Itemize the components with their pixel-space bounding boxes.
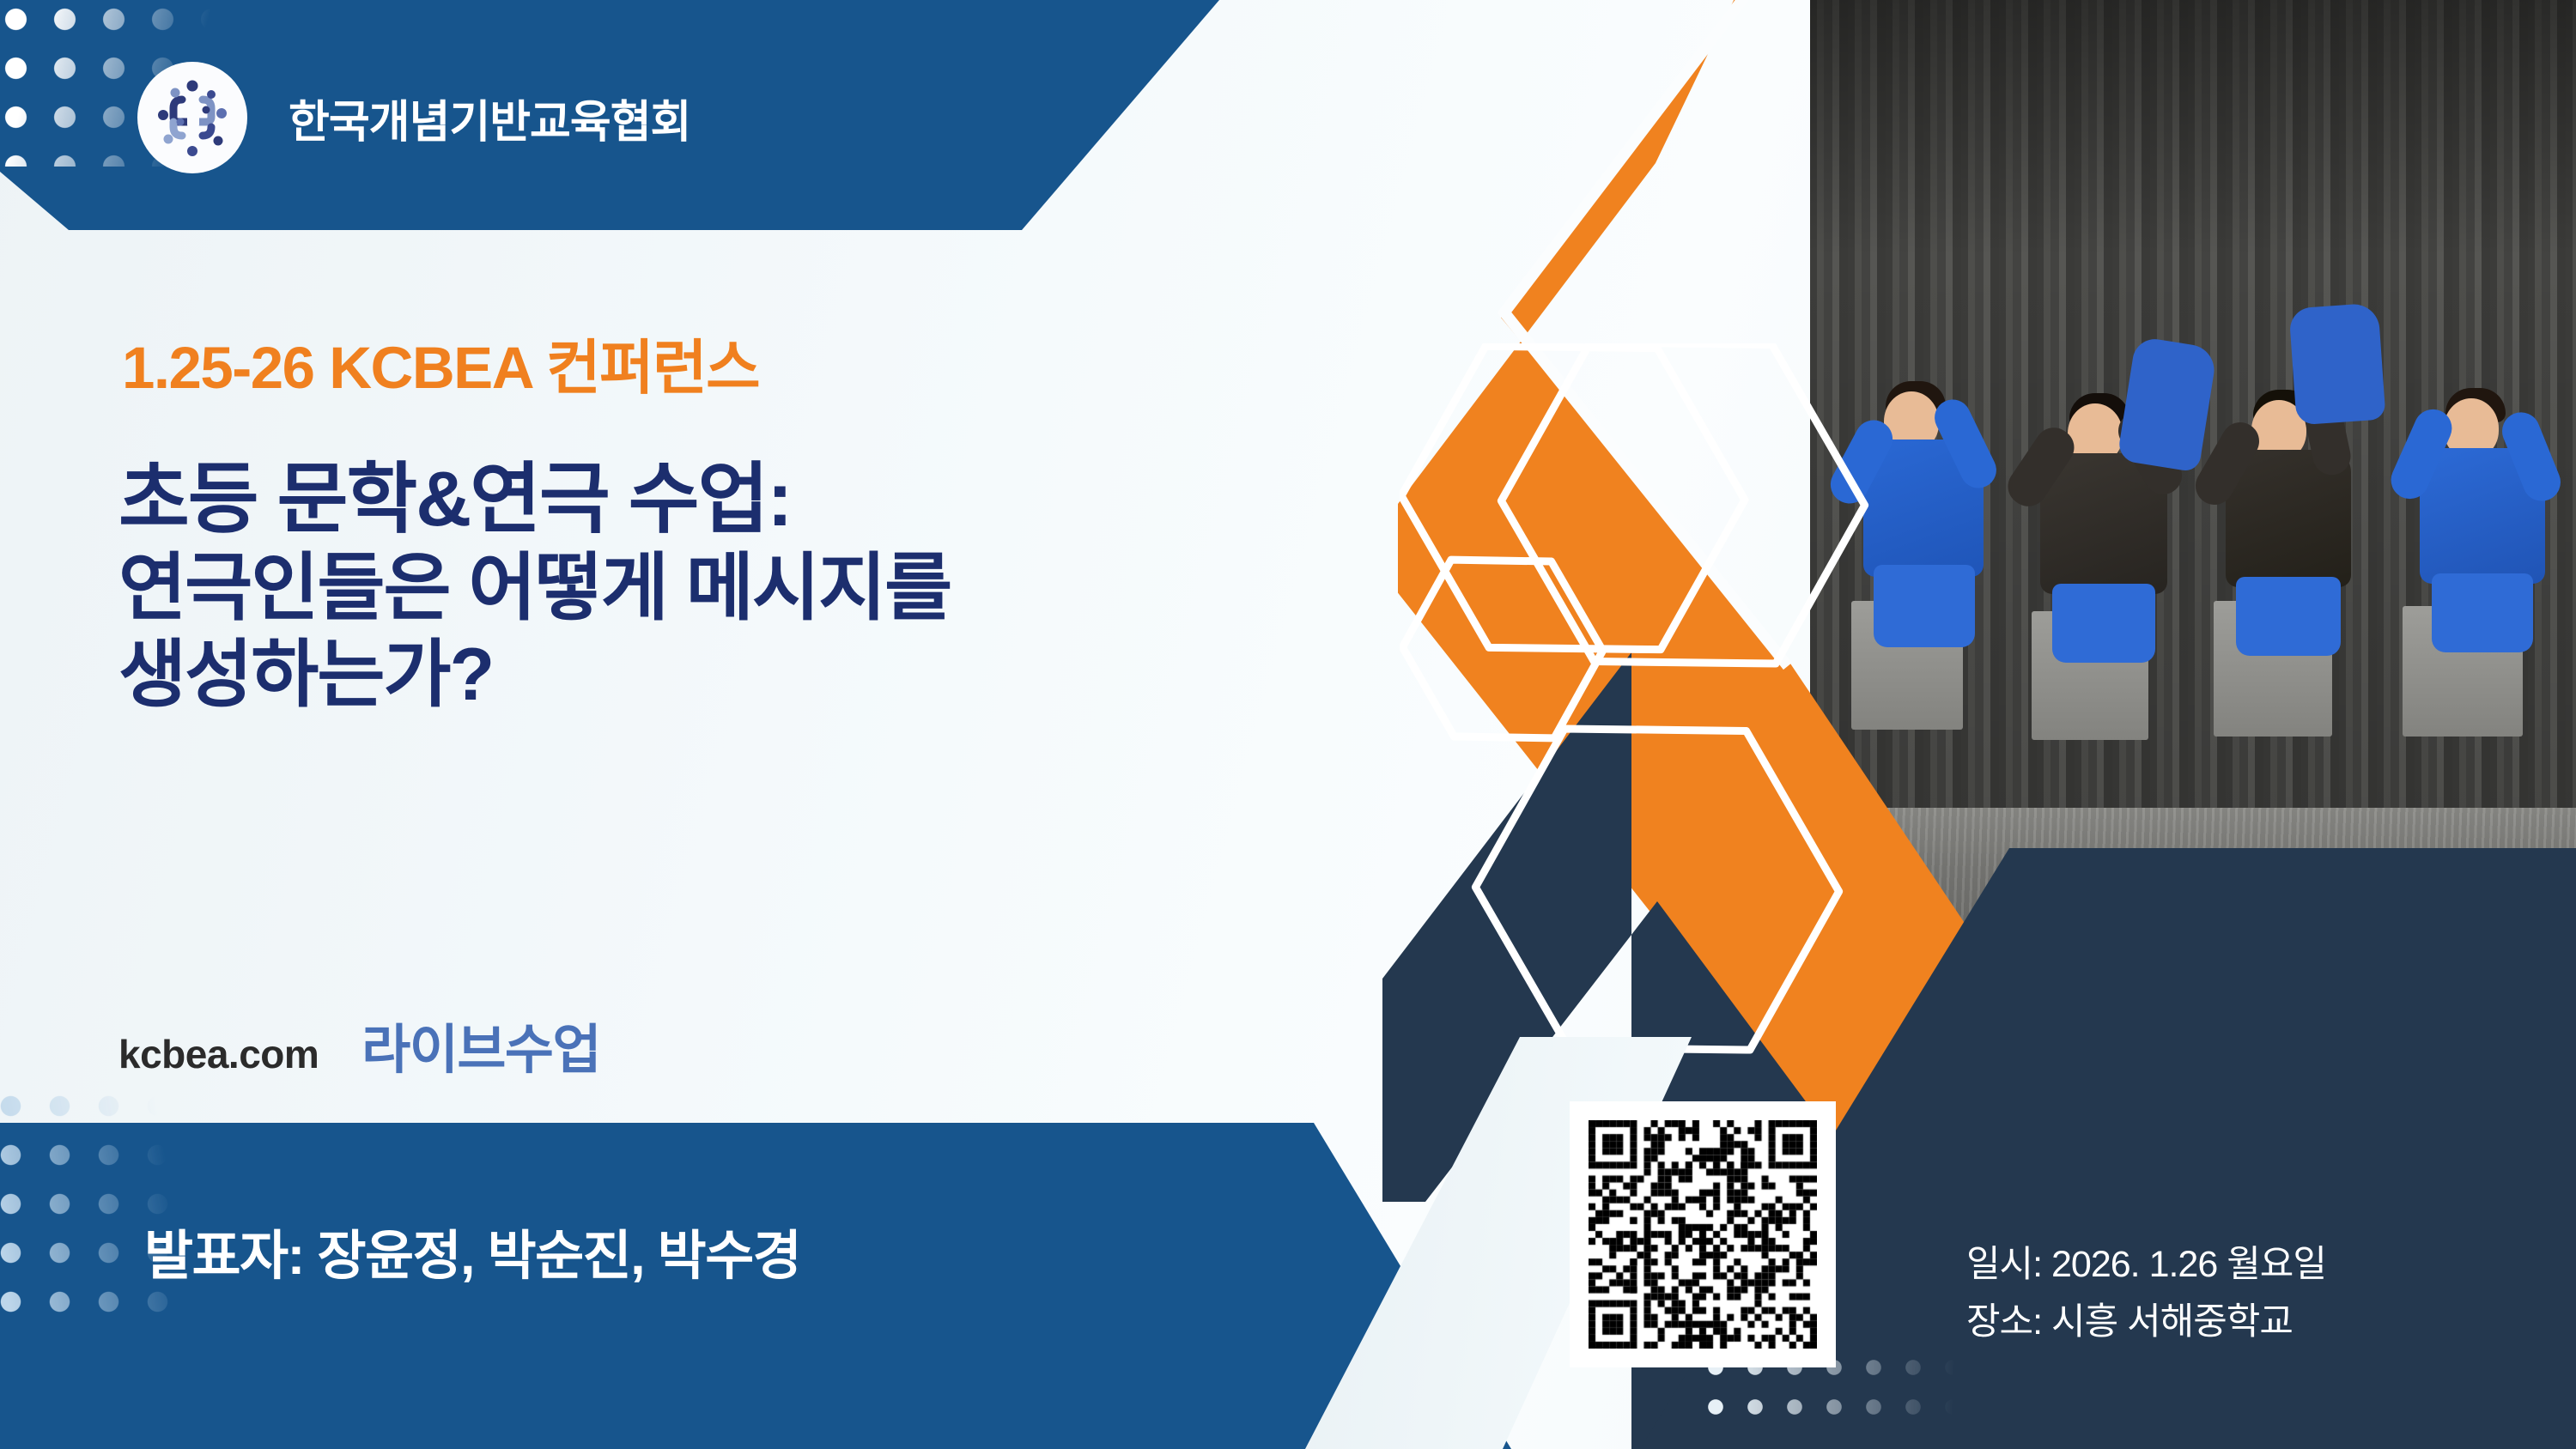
- page-title: 초등 문학&연극 수업: 연극인들은 어떻게 메시지를 생성하는가?: [118, 455, 951, 718]
- kcbea-network-logo-icon: [137, 62, 247, 173]
- qr-code-icon[interactable]: [1570, 1101, 1836, 1367]
- brand-logo-row[interactable]: 한국개념기반교육협회: [137, 62, 690, 173]
- title-line-1: 초등 문학&연극 수업:: [118, 455, 951, 545]
- event-details: 일시: 2026. 1.26 월요일 장소: 시흥 서해중학교: [1966, 1236, 2326, 1350]
- conference-eyebrow: 1.25-26 KCBEA 컨퍼런스: [122, 319, 759, 405]
- performer: [2210, 378, 2391, 635]
- dot-pattern-bottom-left: [0, 1082, 235, 1339]
- presenter-names: 장윤정, 박순진, 박수경: [318, 1227, 801, 1286]
- conference-poster: 한국개념기반교육협회 1.25-26 KCBEA 컨퍼런스 초등 문학&연극 수…: [0, 0, 2576, 1449]
- performer: [2403, 373, 2576, 630]
- performer: [2025, 385, 2205, 642]
- live-class-badge: 라이브수업: [361, 1006, 600, 1083]
- presenter-label: 발표자:: [144, 1227, 304, 1286]
- performer: [1844, 369, 2016, 627]
- site-row: kcbea.com 라이브수업: [118, 1006, 600, 1083]
- event-date: 일시: 2026. 1.26 월요일: [1966, 1236, 2326, 1294]
- event-place: 장소: 시흥 서해중학교: [1966, 1294, 2326, 1351]
- title-line-2: 연극인들은 어떻게 메시지를: [118, 545, 951, 632]
- title-line-3: 생성하는가?: [118, 632, 951, 718]
- organization-name: 한국개념기반교육협회: [289, 86, 690, 150]
- presenter-line: 발표자: 장윤정, 박순진, 박수경: [144, 1212, 800, 1289]
- website-url[interactable]: kcbea.com: [118, 1031, 319, 1077]
